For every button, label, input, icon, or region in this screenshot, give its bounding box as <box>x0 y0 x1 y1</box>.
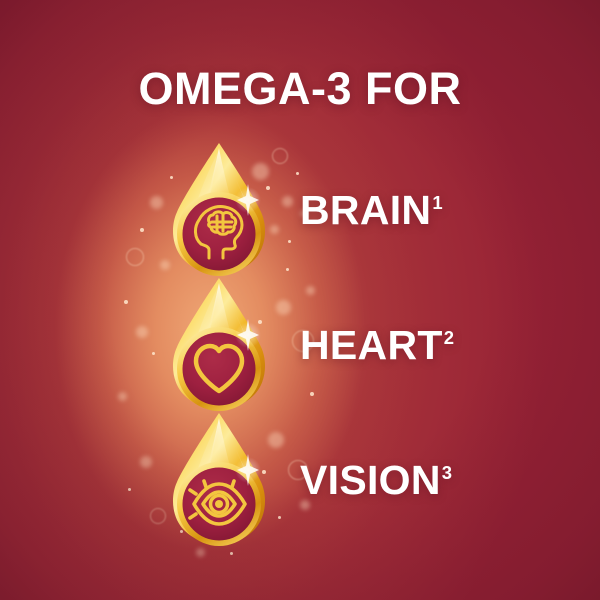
benefit-footnote-brain: 1 <box>432 192 443 213</box>
benefit-footnote-heart: 2 <box>444 327 455 348</box>
benefit-label-brain: BRAIN1 <box>300 190 443 231</box>
golden-oil-droplet-icon <box>160 410 278 552</box>
omega3-benefits-graphic: OMEGA-3 FOR BRA <box>0 0 600 600</box>
benefit-label-vision: VISION3 <box>300 460 452 501</box>
droplet-vision <box>160 410 278 552</box>
droplet-brain <box>160 140 278 282</box>
benefit-label-brain-text: BRAIN <box>300 187 431 233</box>
benefit-label-heart: HEART2 <box>300 325 454 366</box>
benefit-label-vision-text: VISION <box>300 457 441 503</box>
benefit-row-heart: HEART2 <box>0 273 600 418</box>
benefit-row-brain: BRAIN1 <box>0 138 600 283</box>
benefit-label-heart-text: HEART <box>300 322 443 368</box>
golden-oil-droplet-icon <box>160 140 278 282</box>
benefit-footnote-vision: 3 <box>442 462 453 483</box>
golden-oil-droplet-icon <box>160 275 278 417</box>
droplet-heart <box>160 275 278 417</box>
benefit-row-vision: VISION3 <box>0 408 600 553</box>
page-title: OMEGA-3 FOR <box>0 66 600 111</box>
